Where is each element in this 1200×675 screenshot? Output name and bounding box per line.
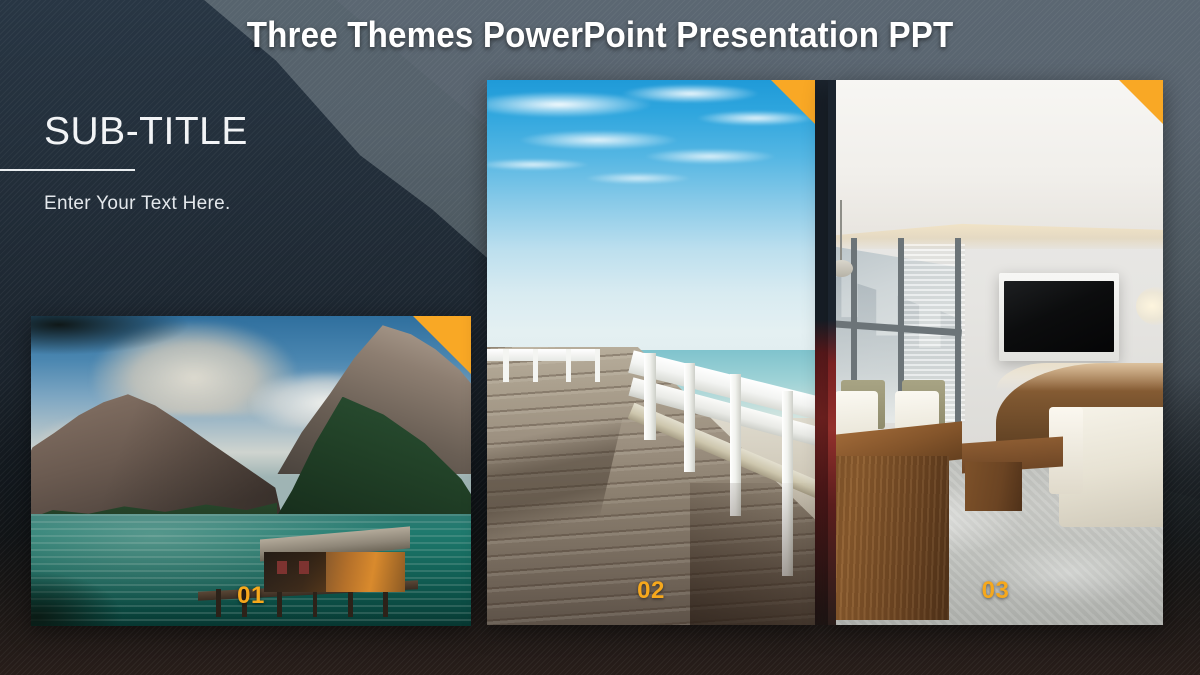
card-seam-strip bbox=[815, 80, 828, 625]
content-card-01[interactable]: 01 bbox=[31, 316, 471, 626]
subtitle-heading: SUB-TITLE bbox=[0, 112, 248, 153]
photo3-tv-screen bbox=[1004, 281, 1115, 353]
photo3-wood-panel-highlight bbox=[996, 363, 1164, 390]
photo2-clouds bbox=[487, 80, 815, 353]
subtitle-divider-rule bbox=[0, 169, 135, 171]
photo1-boathouse-window bbox=[277, 561, 287, 574]
photo3-left-edge-shadow bbox=[828, 80, 836, 625]
card-number-01: 01 bbox=[31, 582, 471, 610]
photo2-rail-post bbox=[684, 363, 695, 472]
card-number-03: 03 bbox=[828, 577, 1163, 605]
corner-triangle-icon bbox=[1119, 80, 1163, 124]
content-card-02[interactable]: 02 bbox=[487, 80, 815, 625]
card-number-02: 02 bbox=[487, 577, 815, 605]
photo3-ceiling bbox=[828, 80, 1163, 249]
photo2-far-post bbox=[533, 349, 538, 382]
corner-triangle-icon bbox=[413, 316, 471, 374]
photo1-boathouse-window bbox=[299, 561, 309, 574]
photo2-far-post bbox=[566, 349, 571, 382]
photo2-far-post bbox=[595, 349, 600, 382]
wooden-pier-ocean-photo bbox=[487, 80, 815, 625]
photo1-foreground-branch bbox=[31, 316, 207, 359]
modern-office-interior-photo bbox=[828, 80, 1163, 625]
photo3-coffee-table-base bbox=[965, 462, 1022, 511]
photo2-rail-post bbox=[644, 353, 655, 440]
slide-title-text: Three Themes PowerPoint Presentation PPT bbox=[247, 14, 954, 56]
slide-title: Three Themes PowerPoint Presentation PPT bbox=[0, 14, 1200, 56]
content-card-03[interactable]: 03 bbox=[828, 80, 1163, 625]
alpine-lake-boathouse-photo bbox=[31, 316, 471, 626]
presentation-slide: Three Themes PowerPoint Presentation PPT… bbox=[0, 0, 1200, 675]
corner-triangle-icon bbox=[771, 80, 815, 124]
photo2-far-post bbox=[503, 349, 508, 382]
subtitle-body-text: Enter Your Text Here. bbox=[0, 193, 248, 215]
subtitle-block: SUB-TITLE Enter Your Text Here. bbox=[0, 112, 248, 215]
photo3-pendant-lamp-cord bbox=[840, 200, 842, 265]
